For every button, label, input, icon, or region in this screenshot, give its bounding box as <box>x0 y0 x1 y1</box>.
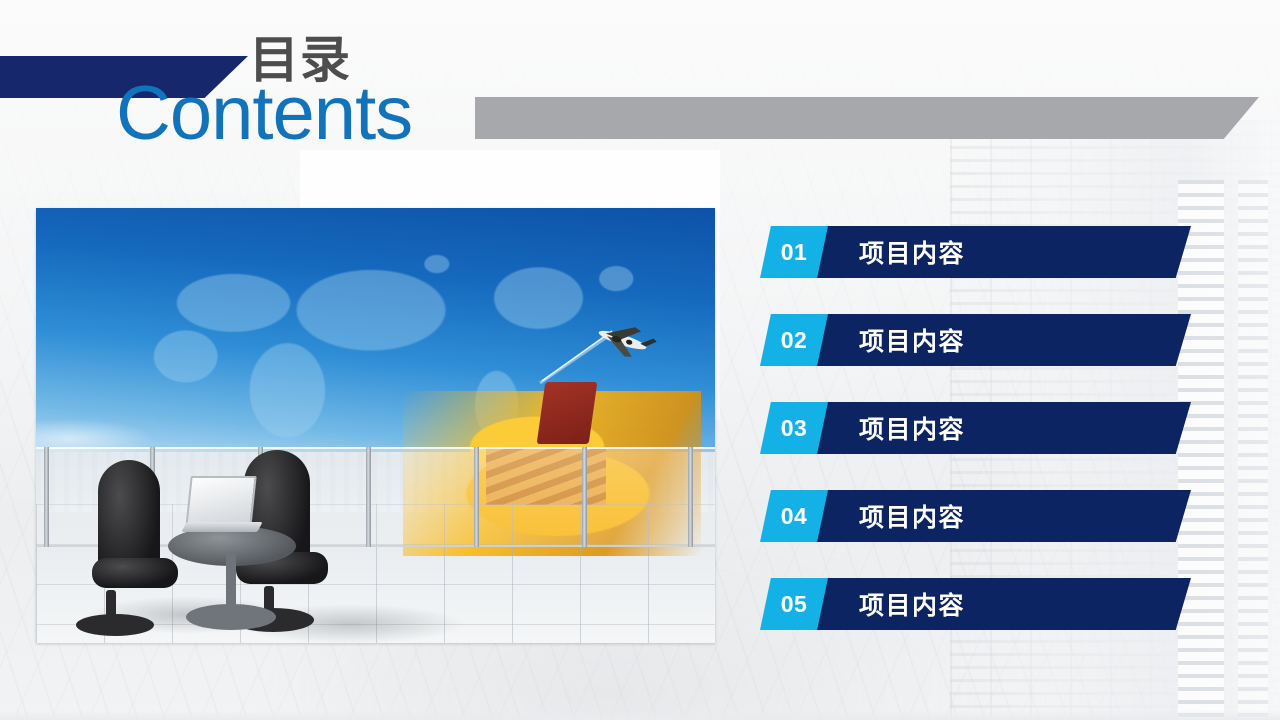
photo-laptop-base <box>181 522 262 532</box>
contents-item-03[interactable]: 03 项目内容 <box>760 402 1200 454</box>
photo-laptop-screen <box>185 476 256 528</box>
item-label: 项目内容 <box>859 402 965 454</box>
photo-railing-post <box>44 447 49 547</box>
page-title-chinese: 目录 <box>249 35 351 85</box>
item-number: 02 <box>760 314 828 366</box>
photo-railing-post <box>688 447 693 547</box>
photo-chair-base-left <box>76 614 154 636</box>
item-label: 项目内容 <box>859 226 965 278</box>
item-number: 05 <box>760 578 828 630</box>
item-number: 03 <box>760 402 828 454</box>
background-tower-column-2 <box>1238 180 1268 720</box>
contents-item-01[interactable]: 01 项目内容 <box>760 226 1200 278</box>
header-gray-bar <box>475 97 1259 139</box>
item-bar <box>767 226 1191 278</box>
photo-railing-post <box>582 447 587 547</box>
photo-railing-post <box>366 447 371 547</box>
contents-list: 01 项目内容 02 项目内容 03 项目内容 04 项目内容 05 项目内容 <box>760 226 1200 666</box>
photo-chair-seat-left <box>92 558 178 588</box>
airplane-icon <box>538 295 668 385</box>
item-label: 项目内容 <box>859 314 965 366</box>
contents-item-05[interactable]: 05 项目内容 <box>760 578 1200 630</box>
item-label: 项目内容 <box>859 490 965 542</box>
item-bar <box>767 578 1191 630</box>
background-bottom-fade <box>0 710 1280 720</box>
contents-item-02[interactable]: 02 项目内容 <box>760 314 1200 366</box>
item-bar <box>767 402 1191 454</box>
photo-table-base <box>186 604 276 630</box>
photo-railing-post <box>474 447 479 547</box>
contents-item-04[interactable]: 04 项目内容 <box>760 490 1200 542</box>
slide-canvas: Contents 目录 <box>0 0 1280 720</box>
item-label: 项目内容 <box>859 578 965 630</box>
item-bar <box>767 314 1191 366</box>
hero-photo <box>36 208 715 643</box>
photo-gold-dark-accent <box>536 382 597 444</box>
item-number: 01 <box>760 226 828 278</box>
item-bar <box>767 490 1191 542</box>
item-number: 04 <box>760 490 828 542</box>
